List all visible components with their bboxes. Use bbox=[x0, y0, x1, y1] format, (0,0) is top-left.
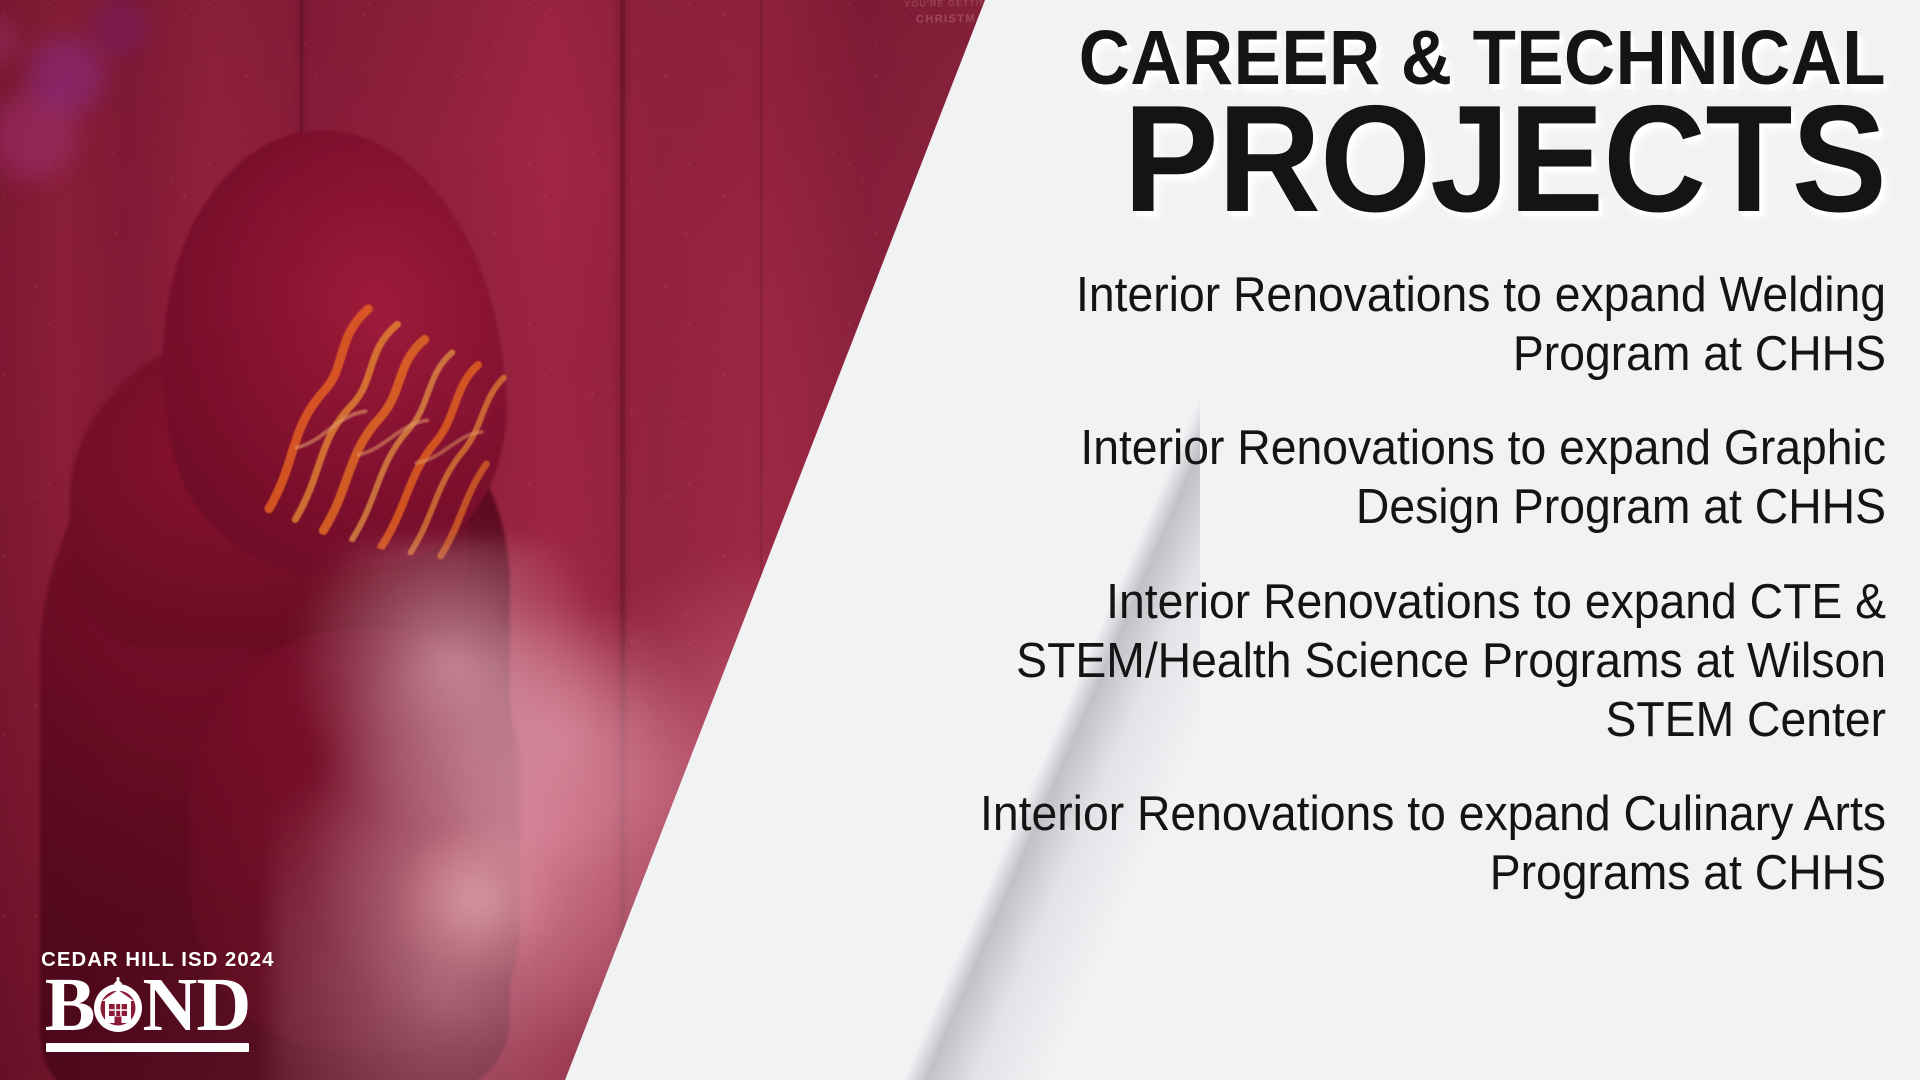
logo-letter-n: N bbox=[142, 973, 196, 1038]
project-list-item: Interior Renovations to expand Culinary … bbox=[930, 785, 1886, 903]
logo-wordmark: B N D bbox=[40, 973, 255, 1038]
project-list: Interior Renovations to expand Welding P… bbox=[874, 266, 1886, 903]
logo-letter-d: D bbox=[196, 973, 250, 1038]
content-panel: CAREER & TECHNICAL PROJECTS Interior Ren… bbox=[874, 0, 1886, 903]
slide-title: CAREER & TECHNICAL PROJECTS bbox=[874, 22, 1886, 222]
title-line-2: PROJECTS bbox=[935, 97, 1886, 222]
bond-logo: CEDAR HILL ISD 2024 B bbox=[40, 948, 255, 1052]
project-list-item: Interior Renovations to expand Welding P… bbox=[930, 266, 1886, 384]
logo-kicker-text: CEDAR HILL ISD 2024 bbox=[41, 948, 254, 972]
project-list-item: Interior Renovations to expand CTE & STE… bbox=[930, 573, 1886, 749]
schoolhouse-icon bbox=[93, 977, 143, 1033]
logo-letter-b: B bbox=[45, 973, 95, 1038]
project-list-item: Interior Renovations to expand Graphic D… bbox=[930, 419, 1886, 537]
slide-canvas: YOU'RE GETTING A CHRISTMAS bbox=[0, 0, 1920, 1080]
